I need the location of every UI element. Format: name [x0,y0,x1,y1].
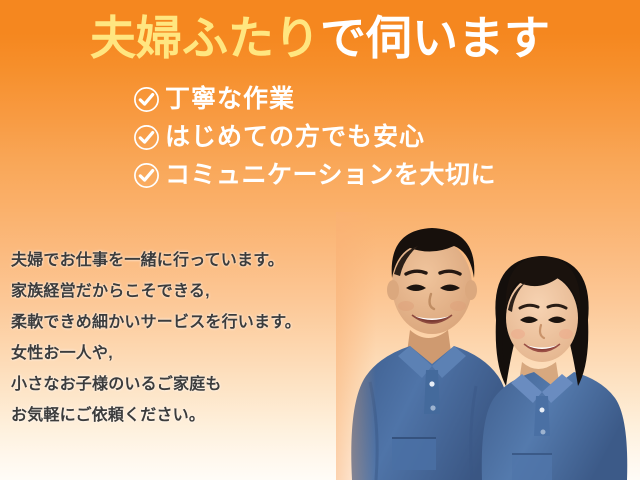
body-line: 柔軟できめ細かいサービスを行います。 [11,307,356,338]
body-copy: 夫婦でお仕事を一緒に行っています。 家族経営だからこそできる, 柔軟できめ細かい… [11,245,356,431]
body-line: 小さなお子様のいるご家庭も [11,369,356,400]
couple-photo [336,212,640,480]
checklist-item-label: はじめての方でも安心 [165,124,425,151]
body-line: 夫婦でお仕事を一緒に行っています。 [11,245,356,276]
checklist-item-label: コミュニケーションを大切に [165,162,496,189]
circle-check-icon [133,162,160,189]
headline-rest: で伺います [320,12,550,64]
body-line: 家族経営だからこそできる, [11,276,356,307]
promo-banner: 夫婦ふたりで伺います 丁寧な作業 はじめての方でも安心 [0,0,640,480]
body-line: 女性お一人や, [11,338,356,369]
checklist-item-2: コミュニケーションを大切に [133,156,633,194]
headline-accent: 夫婦ふたり [90,12,320,64]
headline: 夫婦ふたりで伺います [0,12,640,64]
checklist-item-label: 丁寧な作業 [165,86,295,113]
feature-checklist: 丁寧な作業 はじめての方でも安心 コミュニケーションを大切に [133,80,633,194]
body-line: お気軽にご依頼ください。 [11,400,356,431]
circle-check-icon [133,124,160,151]
circle-check-icon [133,86,160,113]
checklist-item-1: はじめての方でも安心 [133,118,633,156]
checklist-item-0: 丁寧な作業 [133,80,633,118]
